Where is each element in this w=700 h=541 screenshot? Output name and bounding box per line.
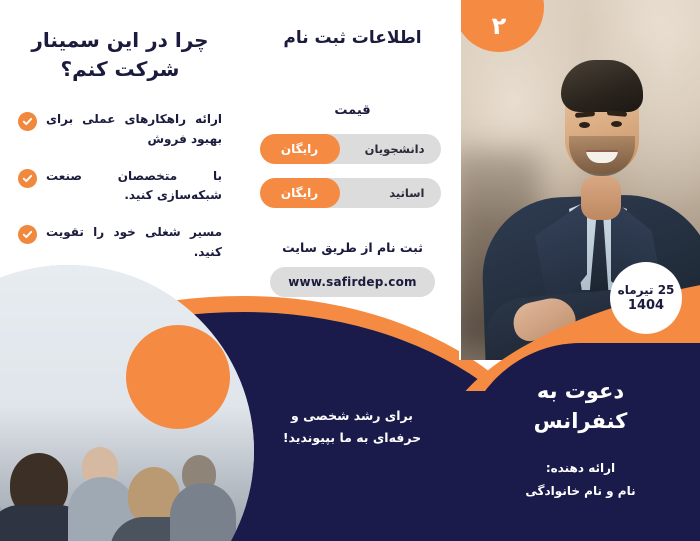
check-circle-icon	[18, 112, 37, 131]
tagline-block: برای رشد شخصی و حرفه‌ای به ما بپیوندید!	[252, 405, 452, 449]
benefit-list: ارائه راهکارهای عملی برای بهبود فروش با …	[14, 110, 226, 263]
flyer-canvas: چرا در این سمینار شرکت کنم؟ ارائه راهکار…	[0, 0, 700, 541]
price-row: اساتید رایگان	[265, 178, 441, 208]
benefit-item: ارائه راهکارهای عملی برای بهبود فروش	[18, 110, 222, 150]
orange-accent-dot	[126, 325, 230, 429]
benefit-item: با متخصصان صنعت شبکه‌سازی کنید.	[18, 167, 222, 207]
price-label: قیمت	[334, 103, 370, 118]
date-badge: 25 تیرماه 1404	[610, 262, 682, 334]
right-column: دعوت به کنفرانس ارائه دهنده: نام و نام خ…	[461, 0, 700, 541]
site-url-link[interactable]: www.safirdep.com	[270, 267, 435, 297]
check-circle-icon	[18, 169, 37, 188]
presenter-hair	[561, 60, 643, 112]
presenter-eye-left	[579, 122, 590, 128]
invitation-text-block: دعوت به کنفرانس ارائه دهنده: نام و نام خ…	[461, 377, 700, 501]
check-circle-icon	[18, 225, 37, 244]
benefit-text: ارائه راهکارهای عملی برای بهبود فروش	[46, 110, 222, 150]
price-table: دانشجویان رایگان اساتید رایگان	[245, 134, 460, 208]
price-audience: اساتید	[389, 186, 424, 200]
price-value-badge: رایگان	[260, 178, 340, 208]
invitation-title-line2: کنفرانس	[477, 407, 684, 436]
benefit-text: با متخصصان صنعت شبکه‌سازی کنید.	[46, 167, 222, 207]
page-number: ۲	[492, 12, 507, 40]
why-attend-heading: چرا در این سمینار شرکت کنم؟	[14, 26, 226, 84]
presenter-neck	[581, 176, 621, 220]
presenter-label: ارائه دهنده:	[477, 458, 684, 478]
benefit-text: مسیر شغلی خود را تقویت کنید.	[46, 223, 222, 263]
column-divider	[459, 0, 461, 360]
presenter-eye-right	[611, 121, 622, 127]
benefit-item: مسیر شغلی خود را تقویت کنید.	[18, 223, 222, 263]
presenter-name: نام و نام خانوادگی	[477, 481, 684, 501]
invitation-title-line1: دعوت به	[477, 377, 684, 406]
price-value-badge: رایگان	[260, 134, 340, 164]
registration-info-panel: اطلاعات ثبت نام قیمت دانشجویان رایگان اس…	[245, 0, 460, 360]
registration-title: اطلاعات ثبت نام	[283, 28, 421, 48]
audience-silhouette	[170, 483, 236, 541]
tagline-line1: برای رشد شخصی و	[252, 405, 452, 427]
price-row: دانشجویان رایگان	[265, 134, 441, 164]
why-attend-panel: چرا در این سمینار شرکت کنم؟ ارائه راهکار…	[0, 0, 240, 330]
date-day: 25 تیرماه	[618, 283, 675, 297]
date-year: 1404	[628, 298, 664, 313]
price-audience: دانشجویان	[365, 142, 425, 156]
site-registration-label: ثبت نام از طریق سایت	[282, 240, 423, 255]
tagline-line2: حرفه‌ای به ما بپیوندید!	[252, 427, 452, 449]
